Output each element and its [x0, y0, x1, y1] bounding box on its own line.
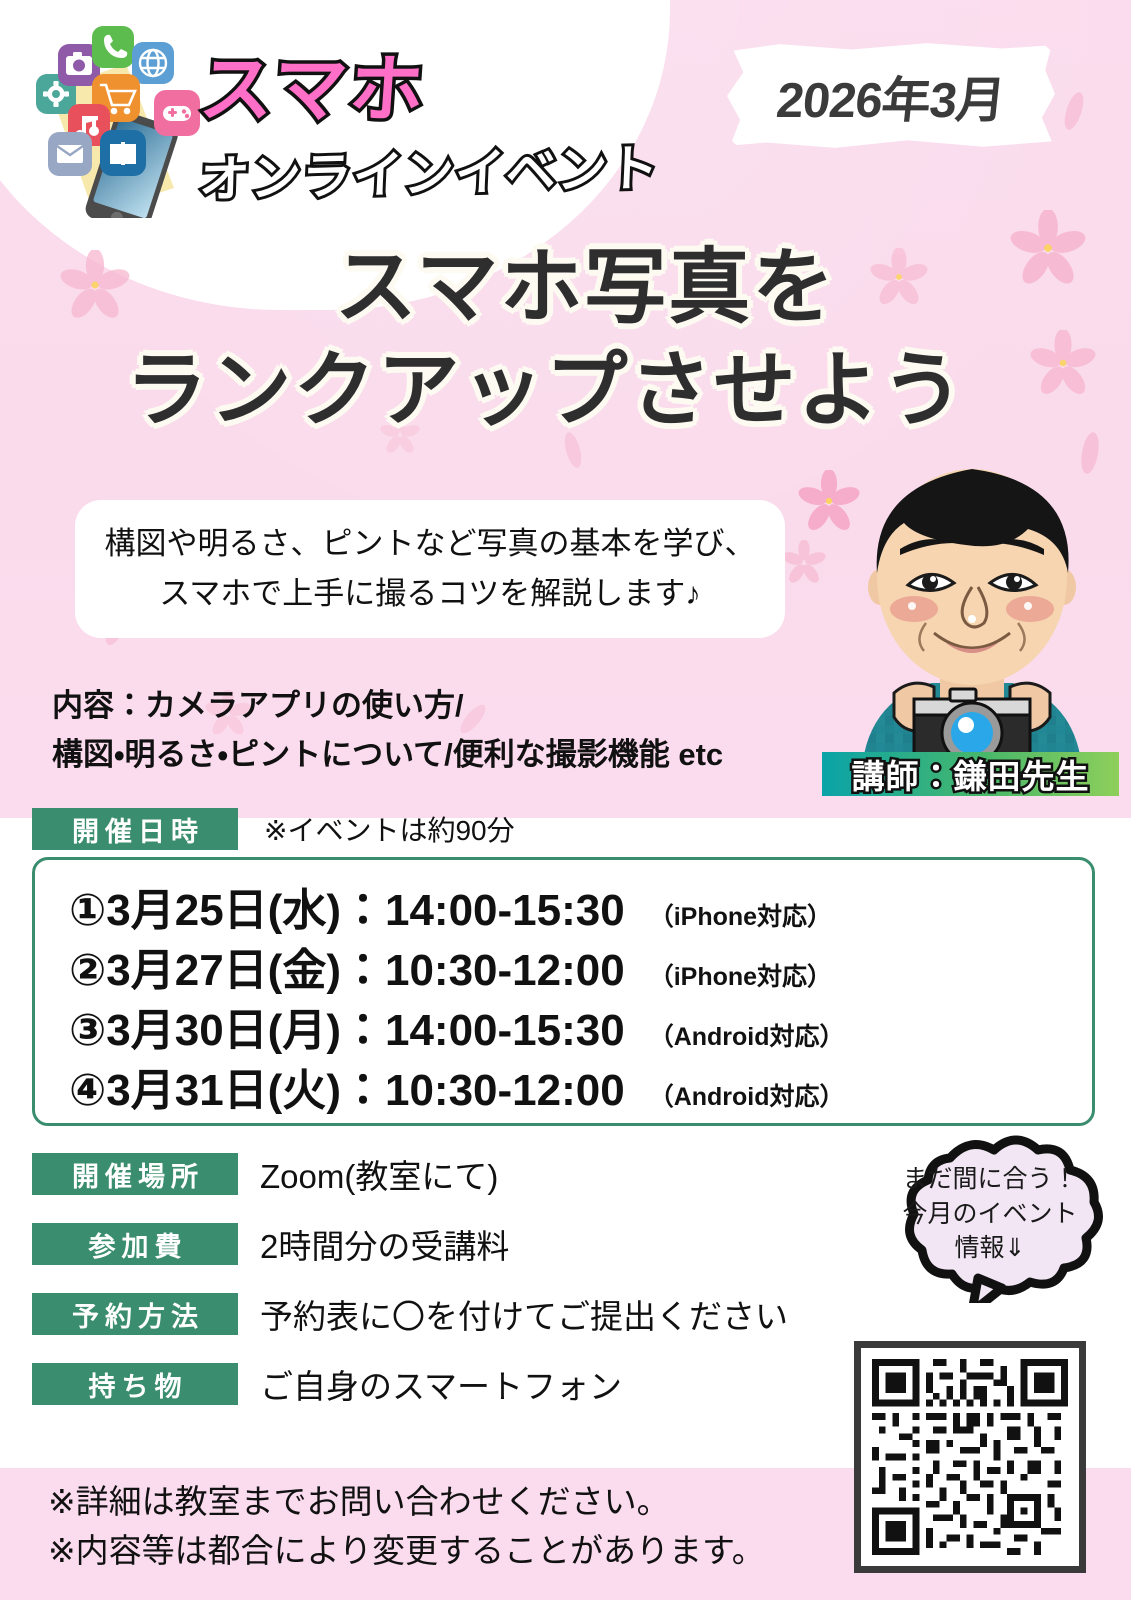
app-icons-cluster — [22, 18, 208, 218]
info-value: 2時間分の受講料 — [260, 1220, 509, 1268]
instructor-illustration — [822, 437, 1122, 767]
bubble-line3: 情報⇓ — [866, 1231, 1114, 1266]
schedule-platform-tag: （Android対応） — [649, 1077, 845, 1113]
schedule-datetime: ③3月30日(月)：14:00-15:30 — [69, 994, 625, 1058]
schedule-row: ①3月25日(水)：14:00-15:30 （iPhone対応） — [35, 874, 1092, 934]
info-row-fee: 参加費 2時間分の受講料 — [32, 1220, 862, 1268]
brand-logo: スマホ オンラインイベント — [196, 24, 716, 204]
schedule-box: ①3月25日(水)：14:00-15:30 （iPhone対応） ②3月27日(… — [32, 857, 1095, 1126]
info-label-chip: 予約方法 — [32, 1293, 238, 1335]
page-title: スマホ写真を ランクアップさせよう — [0, 236, 1131, 443]
info-value: ご自身のスマートフォン — [260, 1360, 622, 1408]
date-badge-label: 2026年3月 — [721, 42, 1060, 150]
schedule-row: ④3月31日(火)：10:30-12:00 （Android対応） — [35, 1054, 1092, 1114]
content-line1: 内容：カメラアプリの使い方/ — [52, 682, 852, 731]
qr-code-image — [872, 1359, 1068, 1555]
speech-bubble: まだ間に合う！ 今月のイベント 情報⇓ — [866, 1128, 1114, 1303]
info-value: Zoom(教室にて) — [260, 1150, 498, 1198]
main-title-line2: ランクアップさせよう — [0, 339, 1131, 442]
book-icon — [100, 130, 146, 176]
qr-code[interactable] — [854, 1341, 1086, 1573]
info-row-venue: 開催場所 Zoom(教室にて) — [32, 1150, 862, 1198]
poster-root: スマホ オンラインイベント 2026年3月 スマホ写真を ランクアップさせよう … — [0, 0, 1131, 1600]
info-label-chip: 参加費 — [32, 1223, 238, 1265]
info-value: 予約表に〇を付けてご提出ください — [260, 1290, 788, 1338]
globe-icon — [132, 42, 174, 84]
main-title-line1: スマホ写真を — [0, 236, 1131, 339]
phone-icon — [92, 26, 134, 68]
brand-line2: オンラインイベント — [198, 128, 661, 212]
lead-line2: スマホで上手に撮るコツを解説します♪ — [159, 569, 701, 619]
schedule-row: ②3月27日(金)：10:30-12:00 （iPhone対応） — [35, 934, 1092, 994]
info-row-reservation: 予約方法 予約表に〇を付けてご提出ください — [32, 1290, 862, 1338]
datetime-note: ※イベントは約90分 — [264, 809, 515, 849]
brand-line1: スマホ — [196, 30, 429, 137]
schedule-datetime: ①3月25日(水)：14:00-15:30 — [69, 874, 625, 938]
lead-description-box: 構図や明るさ、ピントなど写真の基本を学び、 スマホで上手に撮るコツを解説します♪ — [75, 500, 785, 638]
mail-icon — [48, 132, 92, 176]
content-description: 内容：カメラアプリの使い方/ 構図・明るさ・ピントについて/便利な撮影機能 et… — [52, 682, 852, 780]
footer-notes: ※詳細は教室までお問い合わせください。 ※内容等は都合により変更することがありま… — [48, 1478, 868, 1576]
info-label-chip: 開催場所 — [32, 1153, 238, 1195]
date-badge: 2026年3月 — [727, 42, 1055, 150]
schedule-platform-tag: （Android対応） — [649, 1017, 845, 1053]
instructor-name-badge: 講師：鎌田先生 — [822, 752, 1119, 796]
lead-line1: 構図や明るさ、ピントなど写真の基本を学び、 — [105, 519, 756, 569]
info-rows: 開催場所 Zoom(教室にて) 参加費 2時間分の受講料 予約方法 予約表に〇を… — [32, 1150, 862, 1430]
schedule-platform-tag: （iPhone対応） — [649, 957, 832, 993]
info-row-items: 持ち物 ご自身のスマートフォン — [32, 1360, 862, 1408]
gamepad-icon — [154, 90, 200, 136]
datetime-label-chip: 開催日時 — [32, 808, 238, 850]
content-line2: 構図・明るさ・ピントについて/便利な撮影機能 etc — [52, 731, 852, 780]
schedule-datetime: ②3月27日(金)：10:30-12:00 — [69, 934, 625, 998]
bubble-line2: 今月のイベント — [866, 1197, 1114, 1232]
schedule-row: ③3月30日(月)：14:00-15:30 （Android対応） — [35, 994, 1092, 1054]
instructor-name-label: 講師：鎌田先生 — [852, 750, 1090, 798]
info-label-chip: 持ち物 — [32, 1363, 238, 1405]
schedule-platform-tag: （iPhone対応） — [649, 897, 832, 933]
speech-bubble-text: まだ間に合う！ 今月のイベント 情報⇓ — [866, 1162, 1114, 1266]
schedule-datetime: ④3月31日(火)：10:30-12:00 — [69, 1054, 625, 1118]
bubble-line1: まだ間に合う！ — [866, 1162, 1114, 1197]
datetime-section-header: 開催日時 ※イベントは約90分 — [32, 808, 1099, 850]
footer-line2: ※内容等は都合により変更することがあります。 — [48, 1527, 868, 1576]
footer-line1: ※詳細は教室までお問い合わせください。 — [48, 1478, 868, 1527]
